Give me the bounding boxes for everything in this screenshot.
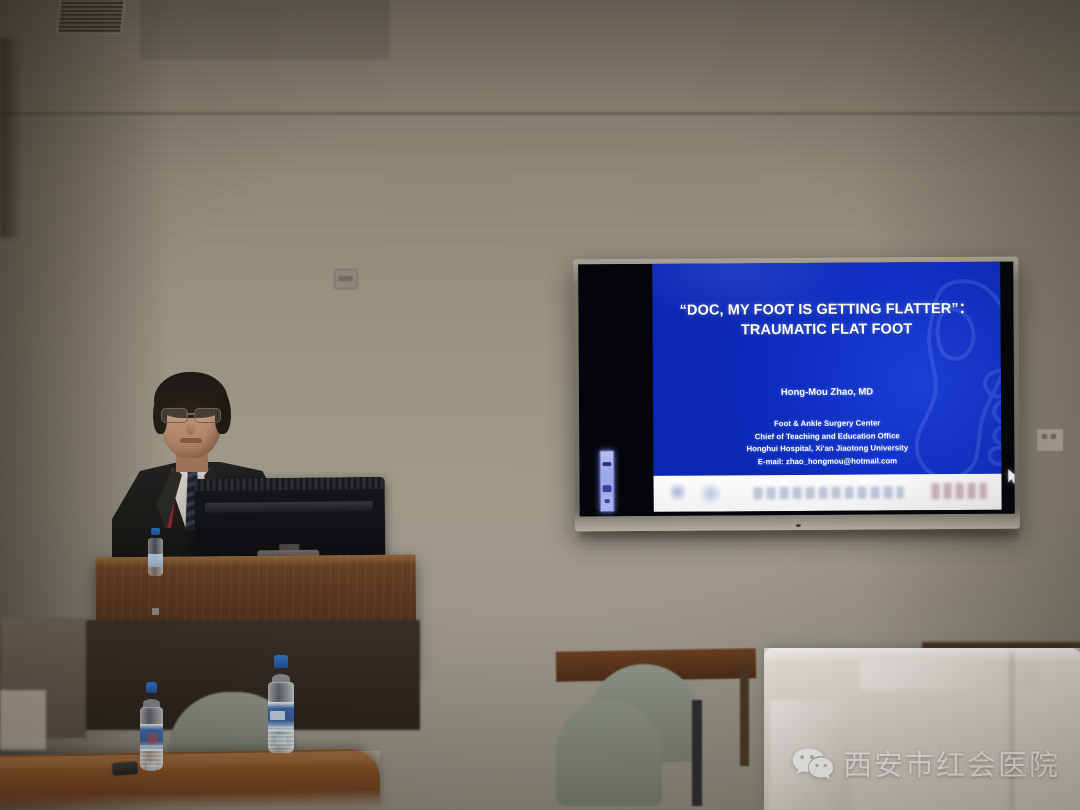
monitor-vent-slot (205, 501, 373, 513)
bottle-cap (151, 528, 160, 535)
slide-title-line2: TRAUMATIC FLAT FOOT (661, 319, 993, 341)
ceiling-panel (140, 0, 390, 60)
footer-logo-icon (700, 481, 722, 505)
bottle-label-text (270, 711, 286, 720)
water-bottle[interactable] (148, 528, 163, 576)
bottle-cap (274, 655, 288, 668)
podium-area (60, 360, 440, 660)
table-leg (740, 666, 749, 766)
nose (186, 422, 195, 435)
conference-room-photo: “DOC, MY FOOT IS GETTING FLATTER”： TRAUM… (0, 0, 1080, 810)
presentation-slide: “DOC, MY FOOT IS GETTING FLATTER”： TRAUM… (652, 262, 1002, 512)
glasses-bridge (186, 413, 194, 415)
bottle-ridges (268, 726, 294, 751)
mouth (180, 438, 202, 443)
scroll-control-strip[interactable] (599, 450, 614, 512)
glasses-icon (160, 408, 222, 422)
bottle-neck (152, 608, 159, 615)
glasses-lens (161, 408, 188, 423)
water-bottle[interactable] (140, 682, 163, 770)
bottle-label-accent (147, 733, 158, 744)
slide-affiliation: Foot & Ankle Surgery Center Chief of Tea… (653, 417, 1001, 470)
bottle-label (148, 554, 163, 567)
foreground-left-panel-lower (0, 690, 46, 750)
control-indicator-icon (605, 499, 610, 503)
slide-author: Hong-Mou Zhao, MD (653, 386, 1001, 399)
bottle-ridges (140, 745, 163, 768)
wall-mounted-tv[interactable]: “DOC, MY FOOT IS GETTING FLATTER”： TRAUM… (573, 257, 1020, 532)
wechat-watermark: 西安市红会医院 (792, 742, 1060, 784)
tv-power-indicator-icon (795, 524, 800, 527)
slide-title: “DOC, MY FOOT IS GETTING FLATTER”： TRAUM… (652, 300, 1000, 341)
tablecloth-seam (1010, 652, 1014, 810)
mobile-phone[interactable] (112, 761, 139, 776)
tv-screen[interactable]: “DOC, MY FOOT IS GETTING FLATTER”： TRAUM… (578, 262, 1015, 517)
chair-frame (692, 700, 702, 806)
footer-text-blur (754, 486, 904, 499)
wechat-icon (792, 747, 834, 780)
watermark-label: 西安市红会医院 (843, 742, 1060, 784)
water-bottle[interactable] (268, 655, 294, 753)
wall-socket-icon (1036, 428, 1064, 452)
stacking-chair[interactable] (556, 700, 662, 806)
footer-logo-icon (670, 484, 686, 504)
bottle-cap (146, 682, 158, 693)
wall-socket-icon (334, 269, 358, 289)
footer-text-blur (932, 483, 987, 499)
affiliation-line-4: E-mail: zhao_hongmou@hotmail.com (653, 455, 1001, 470)
glasses-lens (194, 408, 221, 423)
slide-footer-bar (653, 474, 1001, 512)
slide-title-line1: “DOC, MY FOOT IS GETTING FLATTER”： (680, 301, 974, 319)
letterbox-left (578, 264, 654, 516)
monitor-top-edge (195, 477, 385, 491)
